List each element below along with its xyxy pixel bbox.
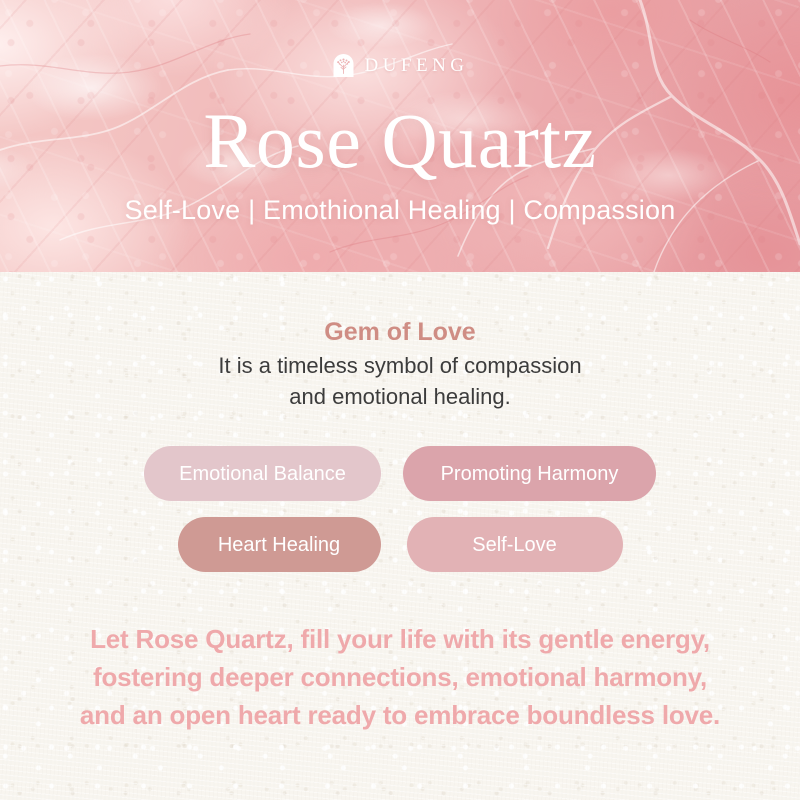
footer-message: Let Rose Quartz, fill your life with its… [0, 620, 800, 734]
hero-header: DUFENG Rose Quartz Self-Love | Emothiona… [0, 0, 800, 272]
arch-tree-logo-icon [331, 52, 356, 78]
description-line-1: It is a timeless symbol of compassion [0, 350, 800, 381]
hero-subtitle: Self-Love | Emothional Healing | Compass… [0, 193, 800, 227]
benefit-tag-heart-healing[interactable]: Heart Healing [178, 517, 381, 572]
section-description: It is a timeless symbol of compassion an… [0, 350, 800, 412]
footer-line-2: fostering deeper connections, emotional … [0, 658, 800, 696]
benefit-tag-self-love[interactable]: Self-Love [407, 517, 623, 572]
brand-name: DUFENG [364, 56, 468, 75]
footer-line-1: Let Rose Quartz, fill your life with its… [0, 620, 800, 658]
page-title: Rose Quartz [0, 96, 800, 186]
benefit-tag-promoting-harmony[interactable]: Promoting Harmony [403, 446, 656, 501]
description-line-2: and emotional healing. [0, 381, 800, 412]
benefit-tag-list: Emotional Balance Promoting Harmony Hear… [0, 446, 800, 588]
section-heading: Gem of Love [0, 316, 800, 348]
poster: DUFENG Rose Quartz Self-Love | Emothiona… [0, 0, 800, 800]
footer-line-3: and an open heart ready to embrace bound… [0, 696, 800, 734]
brand-logo: DUFENG [0, 52, 800, 78]
benefit-tag-row-2: Heart Healing Self-Love [0, 517, 800, 572]
benefit-tag-emotional-balance[interactable]: Emotional Balance [144, 446, 381, 501]
benefit-tag-row-1: Emotional Balance Promoting Harmony [0, 446, 800, 501]
